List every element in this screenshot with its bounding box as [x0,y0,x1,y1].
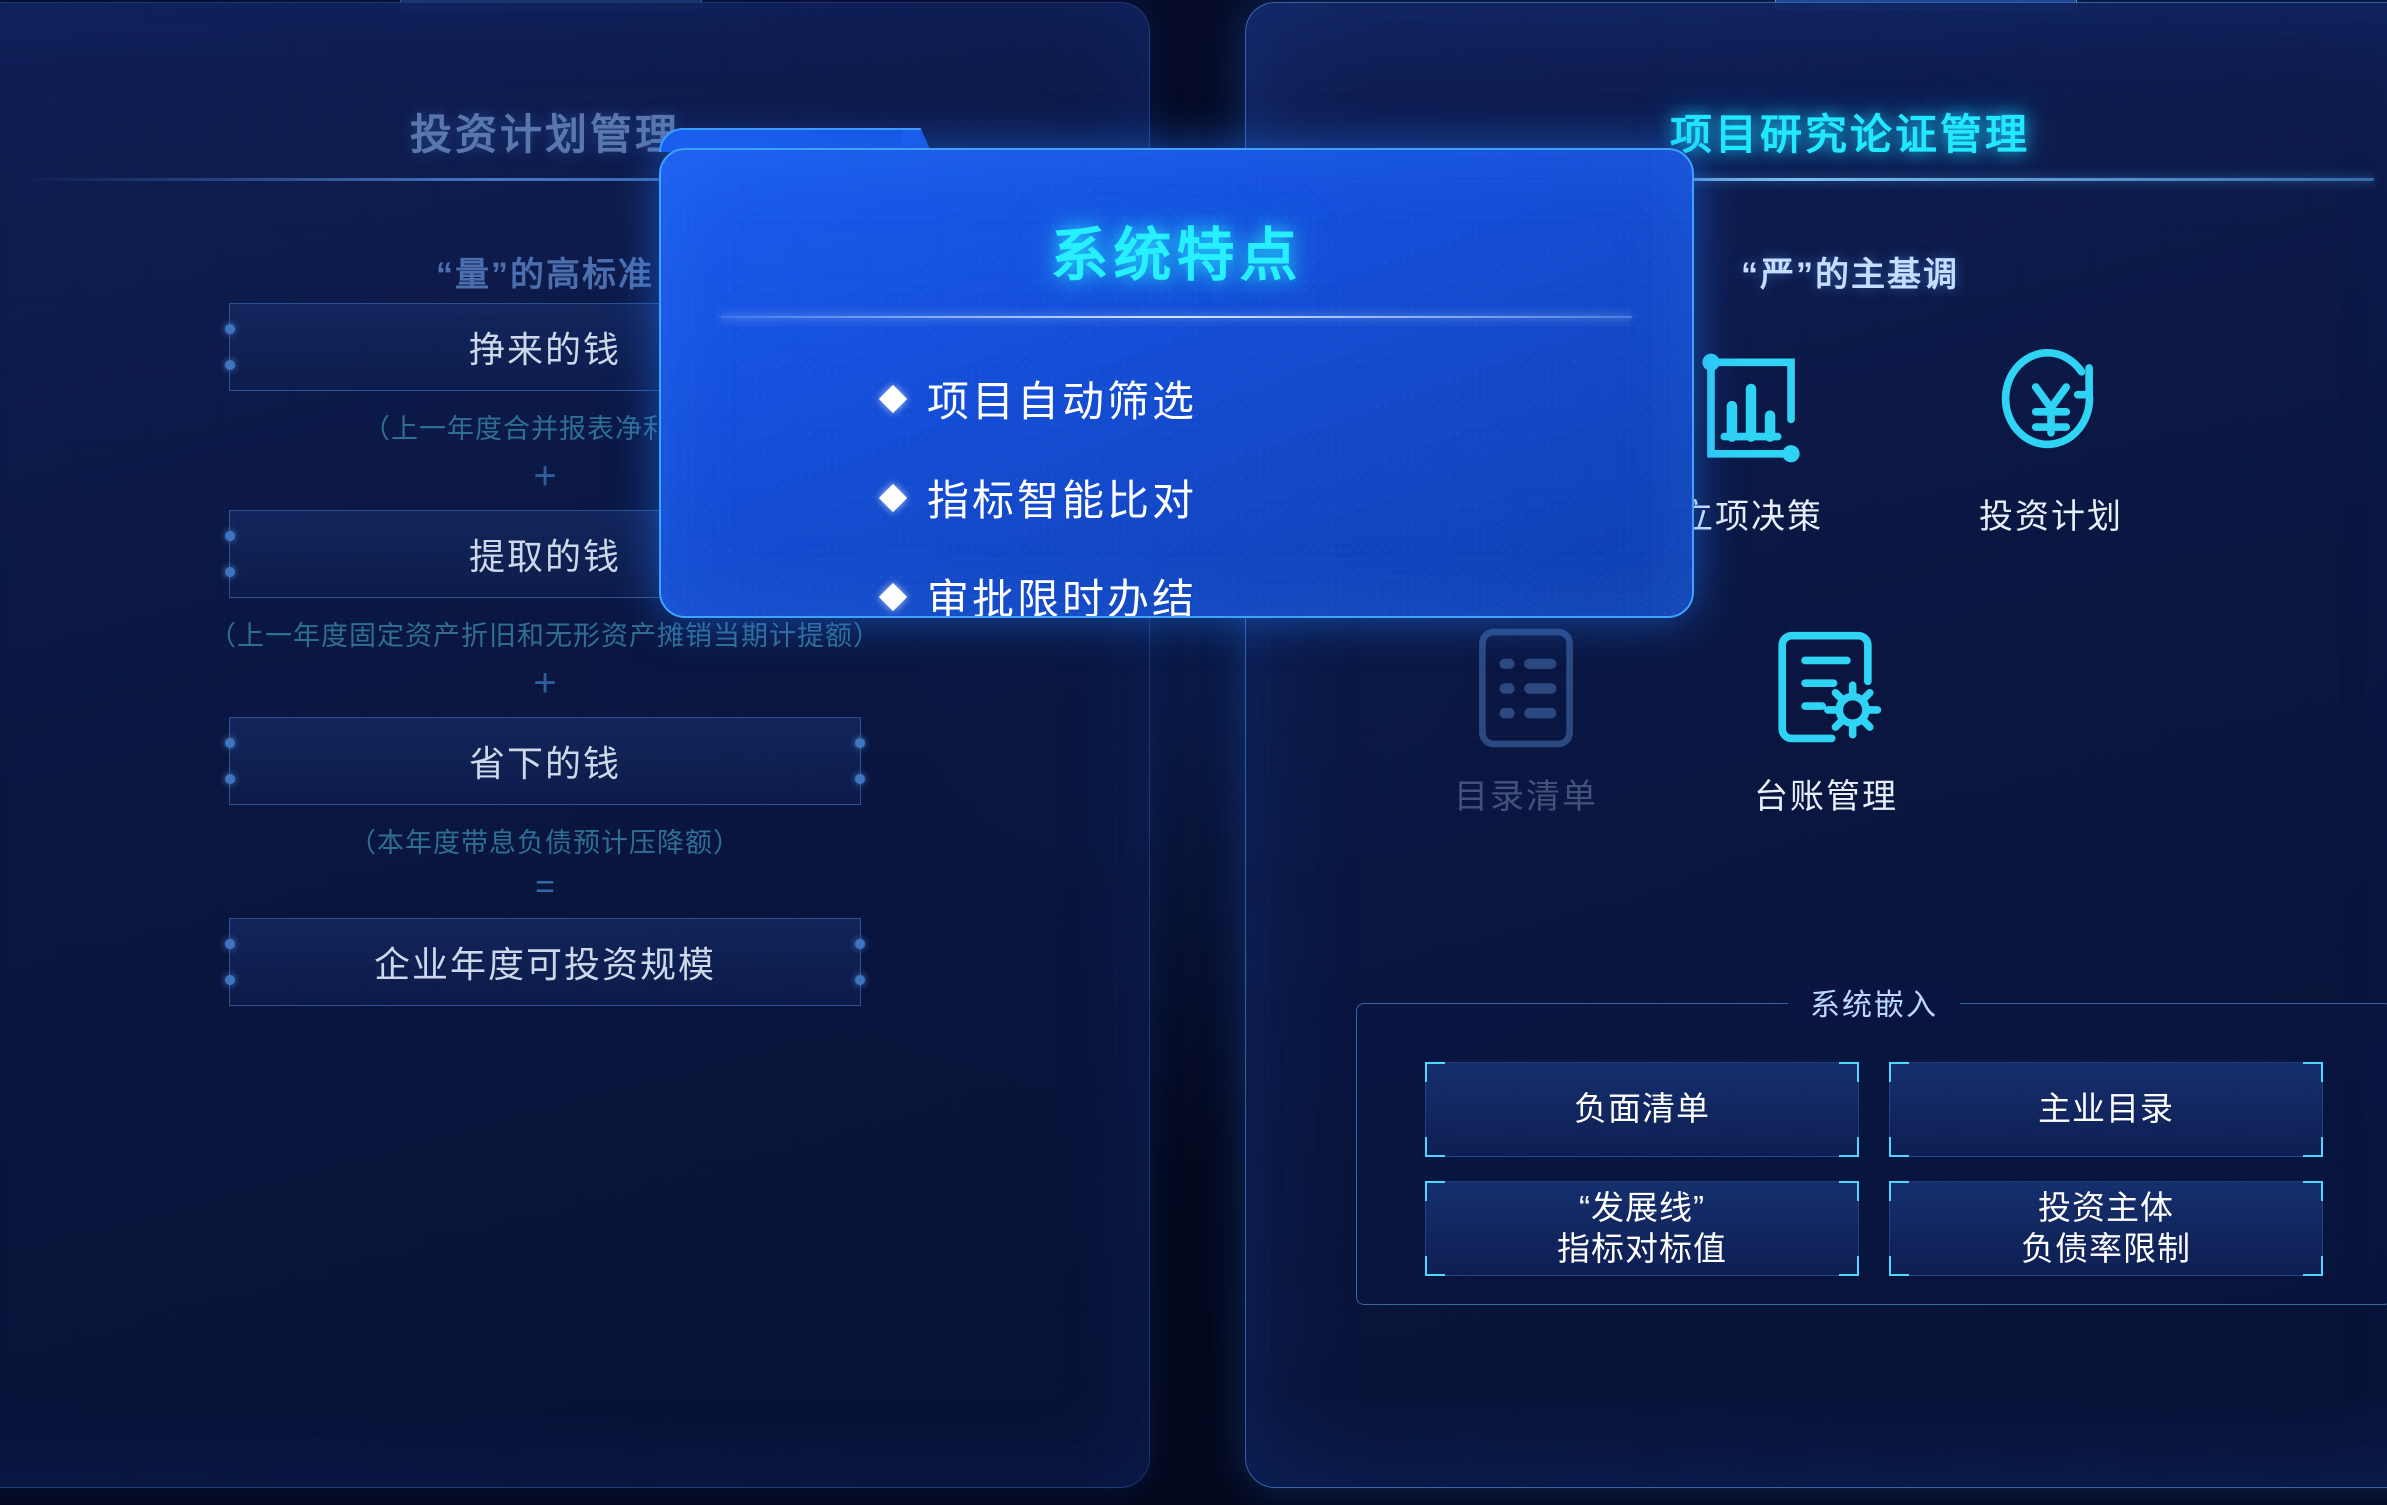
system-embed-grid: 负面清单 主业目录 “发展线” 指标对标值 [1425,1062,2323,1276]
embed-card-line: 投资主体 [2038,1189,2174,1226]
flow-box-label: 提取的钱 [469,528,621,580]
flow-note-saved: （本年度带息负债预计压降额） [0,821,1149,860]
popup-feature-label: 审批限时办结 [927,566,1197,618]
popup-title: 系统特点 [661,208,1692,292]
flow-operator-equals: = [0,870,1149,904]
popup-body: 系统特点 项目自动筛选 指标智能比对 审批限时办结 [659,148,1694,618]
icon-tile-label: 目录清单 [1376,769,1676,818]
embed-card-line: “发展线” [1579,1189,1705,1226]
flow-box-label: 挣来的钱 [469,321,621,373]
flow-box-label: 企业年度可投资规模 [374,936,716,988]
diamond-bullet-icon [879,483,907,511]
popup-feature-item[interactable]: 审批限时办结 [661,566,1692,618]
popup-feature-label: 项目自动筛选 [927,368,1197,429]
diamond-bullet-icon [879,582,907,610]
icon-tile-investment-plan[interactable]: 投资计划 [1901,333,2201,538]
checklist-icon [1376,613,1676,763]
app-background: 投资计划管理 “量”的高标准 挣来的钱 （上一年度合并报表净利润） + 提取的钱… [0,0,2387,1505]
system-embed-group: 系统嵌入 负面清单 主业目录 “发展线” 指标对标值 [1356,1003,2387,1305]
popup-feature-label: 指标智能比对 [927,467,1197,528]
right-icon-row-2: 目录清单 台账管理 [1376,613,1976,818]
embed-card-negative-list[interactable]: 负面清单 [1425,1062,1859,1157]
document-gear-icon [1676,613,1976,763]
flow-operator-plus-2: + [0,663,1149,703]
icon-tile-catalog-list[interactable]: 目录清单 [1376,613,1676,818]
icon-tile-label: 台账管理 [1676,769,1976,818]
flow-box-saved[interactable]: 省下的钱 [229,717,861,805]
yuan-cycle-icon [1901,333,2201,483]
embed-card-line: 负面清单 [1574,1090,1710,1127]
flow-box-label: 省下的钱 [469,735,621,787]
embed-card-investor-debt-limit[interactable]: 投资主体 负债率限制 [1889,1181,2323,1276]
embed-card-line: 主业目录 [2038,1090,2174,1127]
system-features-popup[interactable]: 系统特点 项目自动筛选 指标智能比对 审批限时办结 [659,148,1694,618]
embed-card-main-business-catalog[interactable]: 主业目录 [1889,1062,2323,1157]
icon-tile-ledger-management[interactable]: 台账管理 [1676,613,1976,818]
diamond-bullet-icon [879,384,907,412]
embed-card-line: 指标对标值 [1557,1230,1727,1267]
popup-feature-item[interactable]: 项目自动筛选 [661,368,1692,429]
popup-feature-item[interactable]: 指标智能比对 [661,467,1692,528]
popup-divider [721,316,1632,318]
embed-card-line: 负债率限制 [2021,1230,2191,1267]
icon-tile-label: 投资计划 [1901,489,2201,538]
flow-note-extracted: （上一年度固定资产折旧和无形资产摊销当期计提额） [0,614,1149,653]
embed-card-development-line[interactable]: “发展线” 指标对标值 [1425,1181,1859,1276]
flow-box-total-scale[interactable]: 企业年度可投资规模 [229,918,861,1006]
popup-feature-list: 项目自动筛选 指标智能比对 审批限时办结 [661,368,1692,618]
system-embed-legend: 系统嵌入 [1788,980,1960,1024]
